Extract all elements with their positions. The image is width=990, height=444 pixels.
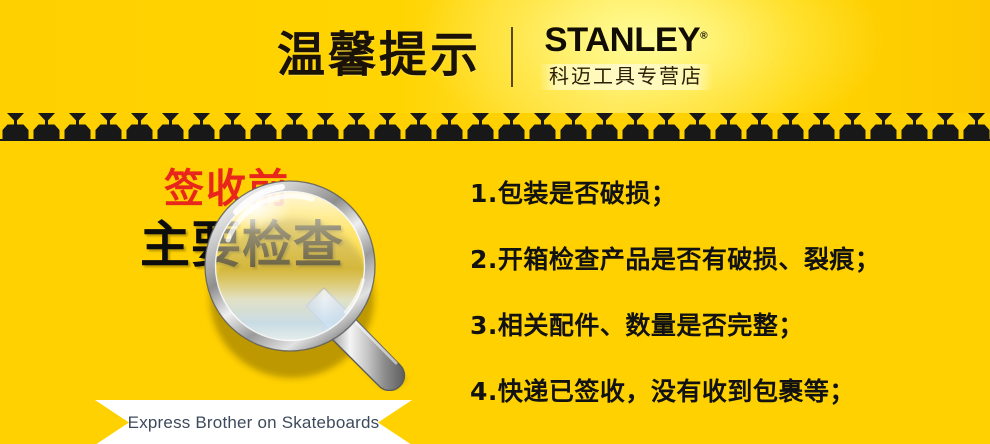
brand-name-text: STANLEY bbox=[544, 21, 700, 59]
list-item: 2.开箱检查产品是否有破损、裂痕； bbox=[470, 247, 970, 272]
brand-block: STANLEY® 科迈工具专营店 bbox=[539, 23, 713, 90]
checklist: 1.包装是否破损； 2.开箱检查产品是否有破损、裂痕； 3.相关配件、数量是否完… bbox=[470, 181, 970, 404]
list-item: 3.相关配件、数量是否完整； bbox=[470, 313, 970, 338]
list-item: 4.快递已签收，没有收到包裹等； bbox=[470, 379, 970, 404]
brand-name: STANLEY® bbox=[544, 23, 707, 57]
magnifying-glass-icon bbox=[200, 176, 420, 391]
header-band: 温馨提示 STANLEY® 科迈工具专营店 bbox=[0, 0, 990, 114]
brand-subtitle-band: 科迈工具专营店 bbox=[539, 64, 713, 90]
ribbon-banner: Express Brother on Skateboards bbox=[95, 400, 412, 444]
header-divider bbox=[511, 27, 513, 87]
page-title: 温馨提示 bbox=[277, 31, 481, 79]
registered-trademark-icon: ® bbox=[700, 30, 708, 41]
ribbon-label: Express Brother on Skateboards bbox=[95, 400, 412, 444]
brand-subtitle: 科迈工具专营店 bbox=[549, 65, 703, 88]
promo-banner: 温馨提示 STANLEY® 科迈工具专营店 bbox=[0, 0, 990, 444]
header-content: 温馨提示 STANLEY® 科迈工具专营店 bbox=[0, 0, 990, 114]
list-item: 1.包装是否破损； bbox=[470, 181, 970, 206]
body-area: 签收前 主要检查 bbox=[0, 141, 990, 444]
decorative-divider bbox=[0, 113, 990, 142]
